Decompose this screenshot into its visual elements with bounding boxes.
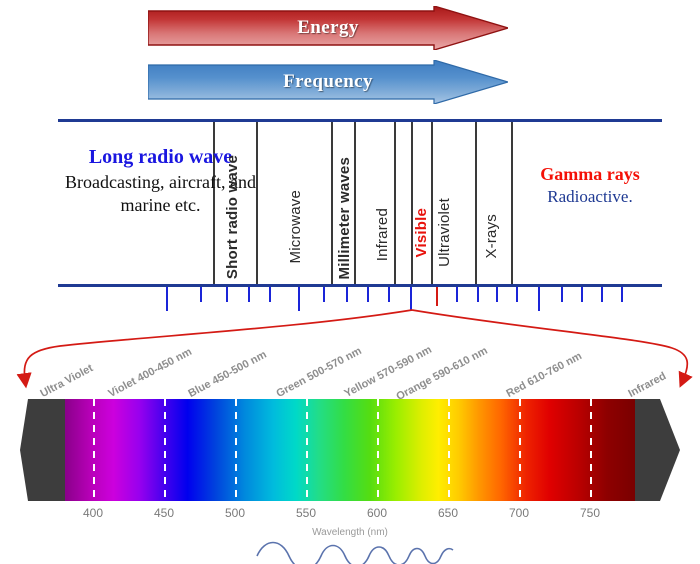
band-divider bbox=[354, 122, 356, 284]
spectrum-band: Long radio wave Broadcasting, aircraft, … bbox=[58, 119, 662, 287]
band-label-millimeter-waves: Millimeter waves bbox=[336, 157, 353, 279]
axis-tick-label: 550 bbox=[296, 506, 316, 520]
band-divider bbox=[475, 122, 477, 284]
frequency-arrow-shape bbox=[148, 60, 508, 104]
spectrum-divider-450 bbox=[164, 399, 166, 501]
spectrum-divider-550 bbox=[306, 399, 308, 501]
em-spectrum-diagram: Energy Frequency bbox=[0, 0, 700, 564]
band-label-microwave: Microwave bbox=[287, 190, 304, 263]
spectrum-divider-400 bbox=[93, 399, 95, 501]
frequency-arrow: Frequency bbox=[148, 60, 508, 104]
band-label-short-radio-wave: Short radio wave bbox=[224, 155, 241, 279]
axis-tick-label: 450 bbox=[154, 506, 174, 520]
band-top-rail bbox=[58, 119, 662, 122]
visible-spectrum-bar bbox=[20, 399, 680, 501]
spectrum-divider-600 bbox=[377, 399, 379, 501]
waveform-icon bbox=[255, 534, 455, 564]
energy-arrow-shape bbox=[148, 6, 508, 50]
gamma-rays-title: Gamma rays bbox=[518, 163, 662, 186]
spectrum-bar-shape bbox=[20, 399, 680, 501]
spectrum-divider-750 bbox=[590, 399, 592, 501]
axis-tick-label: 650 bbox=[438, 506, 458, 520]
energy-arrow: Energy bbox=[148, 6, 508, 50]
axis-tick-label: 500 bbox=[225, 506, 245, 520]
band-label-ultraviolet: Ultraviolet bbox=[436, 198, 453, 267]
spectrum-divider-500 bbox=[235, 399, 237, 501]
band-divider bbox=[431, 122, 433, 284]
band-divider bbox=[331, 122, 333, 284]
axis-tick-label: 750 bbox=[580, 506, 600, 520]
axis-tick-label: 700 bbox=[509, 506, 529, 520]
band-label-infrared: Infrared bbox=[374, 208, 391, 261]
gamma-rays-block: Gamma rays Radioactive. bbox=[518, 163, 662, 208]
axis-tick-label: 600 bbox=[367, 506, 387, 520]
band-divider bbox=[511, 122, 513, 284]
axis-tick-label: 400 bbox=[83, 506, 103, 520]
gamma-rays-description: Radioactive. bbox=[518, 186, 662, 208]
band-label-x-rays: X-rays bbox=[483, 214, 500, 259]
wavelength-axis: 400 450 500 550 600 650 700 750 bbox=[0, 506, 700, 524]
band-divider bbox=[411, 122, 413, 284]
spectrum-divider-650 bbox=[448, 399, 450, 501]
band-divider bbox=[394, 122, 396, 284]
band-label-visible: Visible bbox=[413, 208, 430, 257]
spectrum-divider-700 bbox=[519, 399, 521, 501]
